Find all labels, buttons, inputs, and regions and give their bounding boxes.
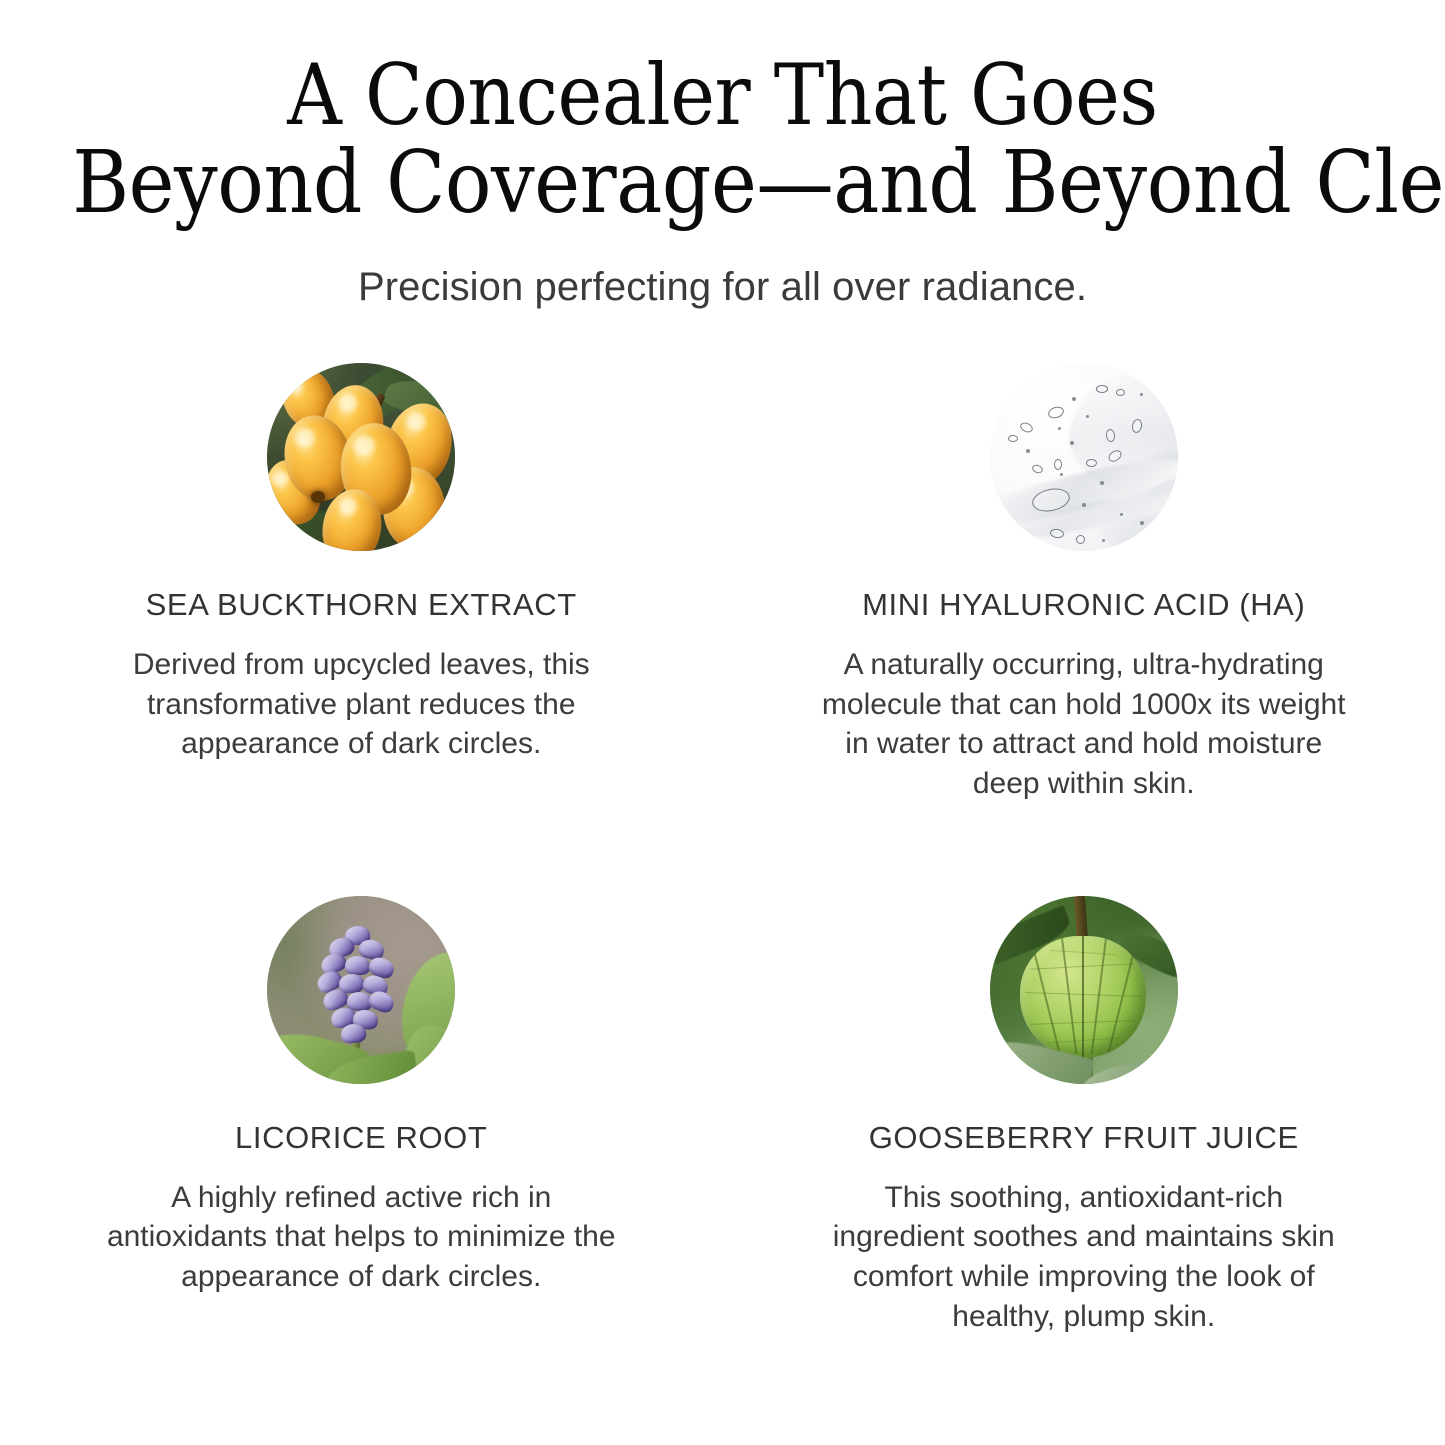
ingredient-title: MINI HYALURONIC ACID (HA)	[862, 586, 1305, 623]
page-title: A Concealer That Goes Beyond Coverage—an…	[72, 52, 1373, 229]
ingredient-description: Derived from upcycled leaves, this trans…	[96, 645, 626, 764]
gooseberry-fruit-photo	[990, 896, 1178, 1084]
ingredient-title: SEA BUCKTHORN EXTRACT	[146, 586, 577, 623]
ingredient-card-licorice-root: LICORICE ROOT A highly refined active ri…	[0, 896, 723, 1337]
ingredient-description: A highly refined active rich in antioxid…	[96, 1178, 626, 1297]
ingredient-card-hyaluronic-acid: MINI HYALURONIC ACID (HA) A naturally oc…	[723, 363, 1445, 804]
ingredient-card-sea-buckthorn: SEA BUCKTHORN EXTRACT Derived from upcyc…	[0, 363, 723, 804]
headline-line-1: A Concealer That Goes	[72, 52, 1373, 139]
header: A Concealer That Goes Beyond Coverage—an…	[0, 52, 1445, 311]
ingredient-title: LICORICE ROOT	[235, 1119, 487, 1156]
hyaluronic-acid-gel-texture-photo	[990, 363, 1178, 551]
ingredient-description: This soothing, antioxidant-rich ingredie…	[819, 1178, 1349, 1336]
ingredient-card-gooseberry: GOOSEBERRY FRUIT JUICE This soothing, an…	[723, 896, 1445, 1337]
ingredient-title: GOOSEBERRY FRUIT JUICE	[869, 1119, 1299, 1156]
ingredient-description: A naturally occurring, ultra-hydrating m…	[819, 645, 1349, 803]
infographic-page: A Concealer That Goes Beyond Coverage—an…	[0, 0, 1445, 1445]
ingredient-grid: SEA BUCKTHORN EXTRACT Derived from upcyc…	[0, 363, 1445, 1336]
headline-line-2: Beyond Coverage—and Beyond Clean	[72, 139, 1373, 228]
licorice-root-flower-photo	[267, 896, 455, 1084]
sea-buckthorn-berries-photo	[267, 363, 455, 551]
page-subtitle: Precision perfecting for all over radian…	[0, 263, 1445, 311]
